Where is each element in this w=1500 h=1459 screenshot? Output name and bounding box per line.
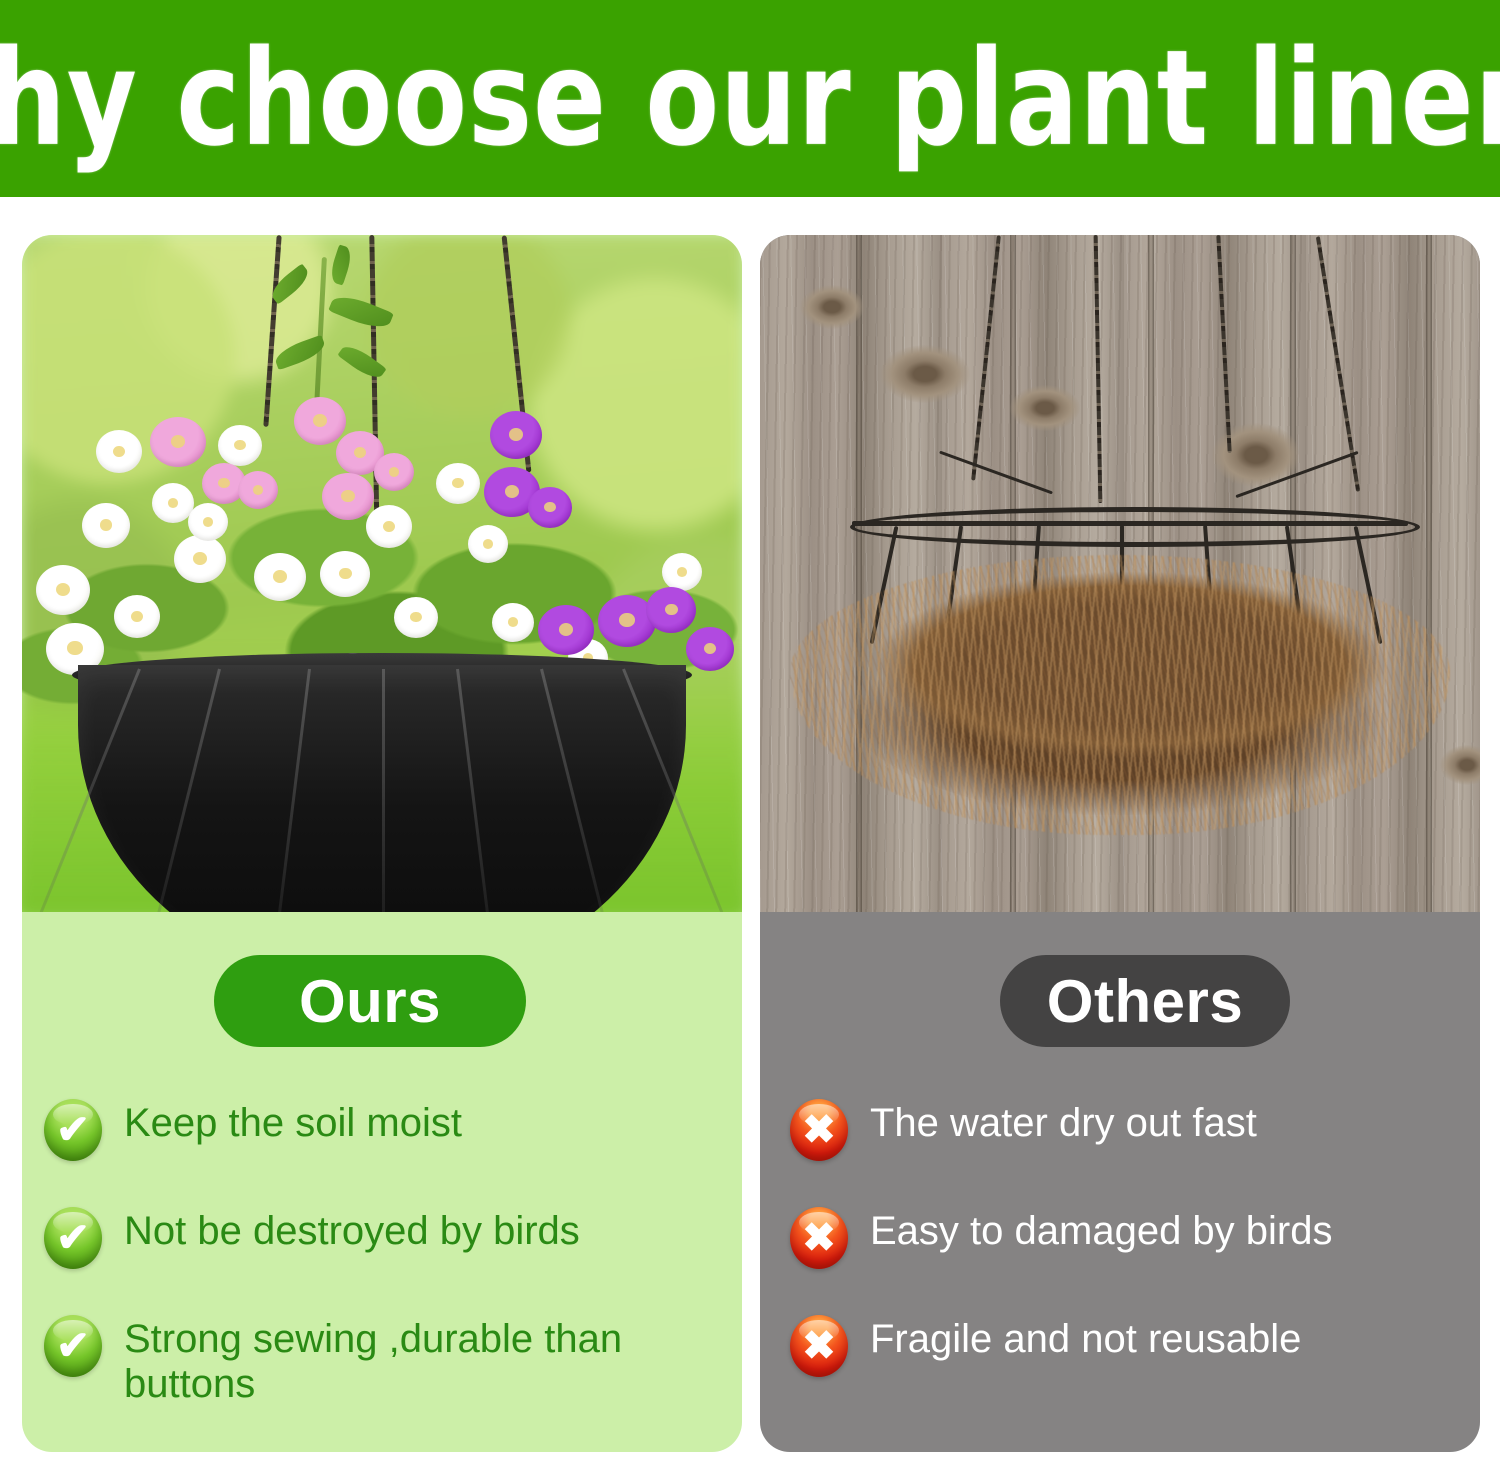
list-item: ✔ Keep the soil moist	[44, 1097, 734, 1161]
white-flower	[492, 603, 534, 642]
list-item-label: Easy to damaged by birds	[870, 1205, 1332, 1254]
wire-basket-rim	[850, 507, 1420, 547]
check-icon: ✔	[44, 1207, 102, 1269]
header-banner: Why choose our plant liner ?	[0, 0, 1500, 197]
purple-flower	[528, 487, 572, 528]
purple-flower	[538, 605, 594, 655]
ours-product-photo	[22, 235, 742, 912]
white-flower	[218, 425, 262, 466]
pink-flower	[294, 397, 346, 445]
list-item-label: Not be destroyed by birds	[124, 1205, 580, 1254]
list-item: ✖ The water dry out fast	[790, 1097, 1480, 1161]
others-product-photo	[760, 235, 1480, 912]
list-item: ✔ Not be destroyed by birds	[44, 1205, 734, 1269]
white-flower	[36, 565, 90, 615]
white-flower	[436, 463, 480, 504]
purple-flower	[490, 411, 542, 459]
purple-flower	[646, 587, 696, 633]
ours-panel: Ours ✔ Keep the soil moist ✔ Not be dest…	[22, 235, 742, 1452]
plank-seam	[1426, 235, 1432, 912]
wood-knot	[800, 285, 864, 329]
page-title: Why choose our plant liner ?	[30, 0, 1470, 197]
white-flower	[96, 430, 142, 473]
wire-basket-rim-bar	[852, 521, 1408, 526]
plank-seam	[856, 235, 862, 912]
white-flower	[366, 505, 412, 548]
wood-knot	[1010, 385, 1080, 431]
list-item: ✖ Fragile and not reusable	[790, 1313, 1480, 1377]
others-badge: Others	[1000, 955, 1290, 1047]
pink-flower	[374, 453, 414, 491]
pink-flower	[238, 471, 278, 509]
check-icon: ✔	[44, 1099, 102, 1161]
white-flower	[82, 503, 130, 548]
white-flower	[254, 553, 306, 601]
white-flower	[174, 535, 226, 583]
list-item-label: Fragile and not reusable	[870, 1313, 1301, 1362]
others-drawback-list: ✖ The water dry out fast ✖ Easy to damag…	[790, 1097, 1480, 1421]
list-item-label: The water dry out fast	[870, 1097, 1257, 1146]
others-badge-label: Others	[1047, 967, 1243, 1036]
wood-knot	[880, 345, 970, 403]
list-item-label: Keep the soil moist	[124, 1097, 462, 1146]
list-item: ✔ Strong sewing ,durable than buttons	[44, 1313, 734, 1407]
pink-flower	[322, 473, 374, 520]
white-flower	[468, 525, 508, 563]
black-planter-bowl	[78, 665, 686, 912]
white-flower	[394, 597, 438, 638]
purple-flower	[686, 627, 734, 671]
cross-icon: ✖	[790, 1099, 848, 1161]
list-item: ✖ Easy to damaged by birds	[790, 1205, 1480, 1269]
cross-icon: ✖	[790, 1315, 848, 1377]
ours-badge: Ours	[214, 955, 526, 1047]
list-item-label: Strong sewing ,durable than buttons	[124, 1313, 734, 1407]
white-flower	[188, 503, 228, 541]
check-icon: ✔	[44, 1315, 102, 1377]
white-flower	[114, 595, 160, 638]
cross-icon: ✖	[790, 1207, 848, 1269]
ours-badge-label: Ours	[299, 967, 441, 1036]
white-flower	[320, 551, 370, 597]
ours-feature-list: ✔ Keep the soil moist ✔ Not be destroyed…	[44, 1097, 734, 1451]
others-panel: Others ✖ The water dry out fast ✖ Easy t…	[760, 235, 1480, 1452]
pink-flower	[150, 417, 206, 467]
white-flower	[662, 553, 702, 591]
